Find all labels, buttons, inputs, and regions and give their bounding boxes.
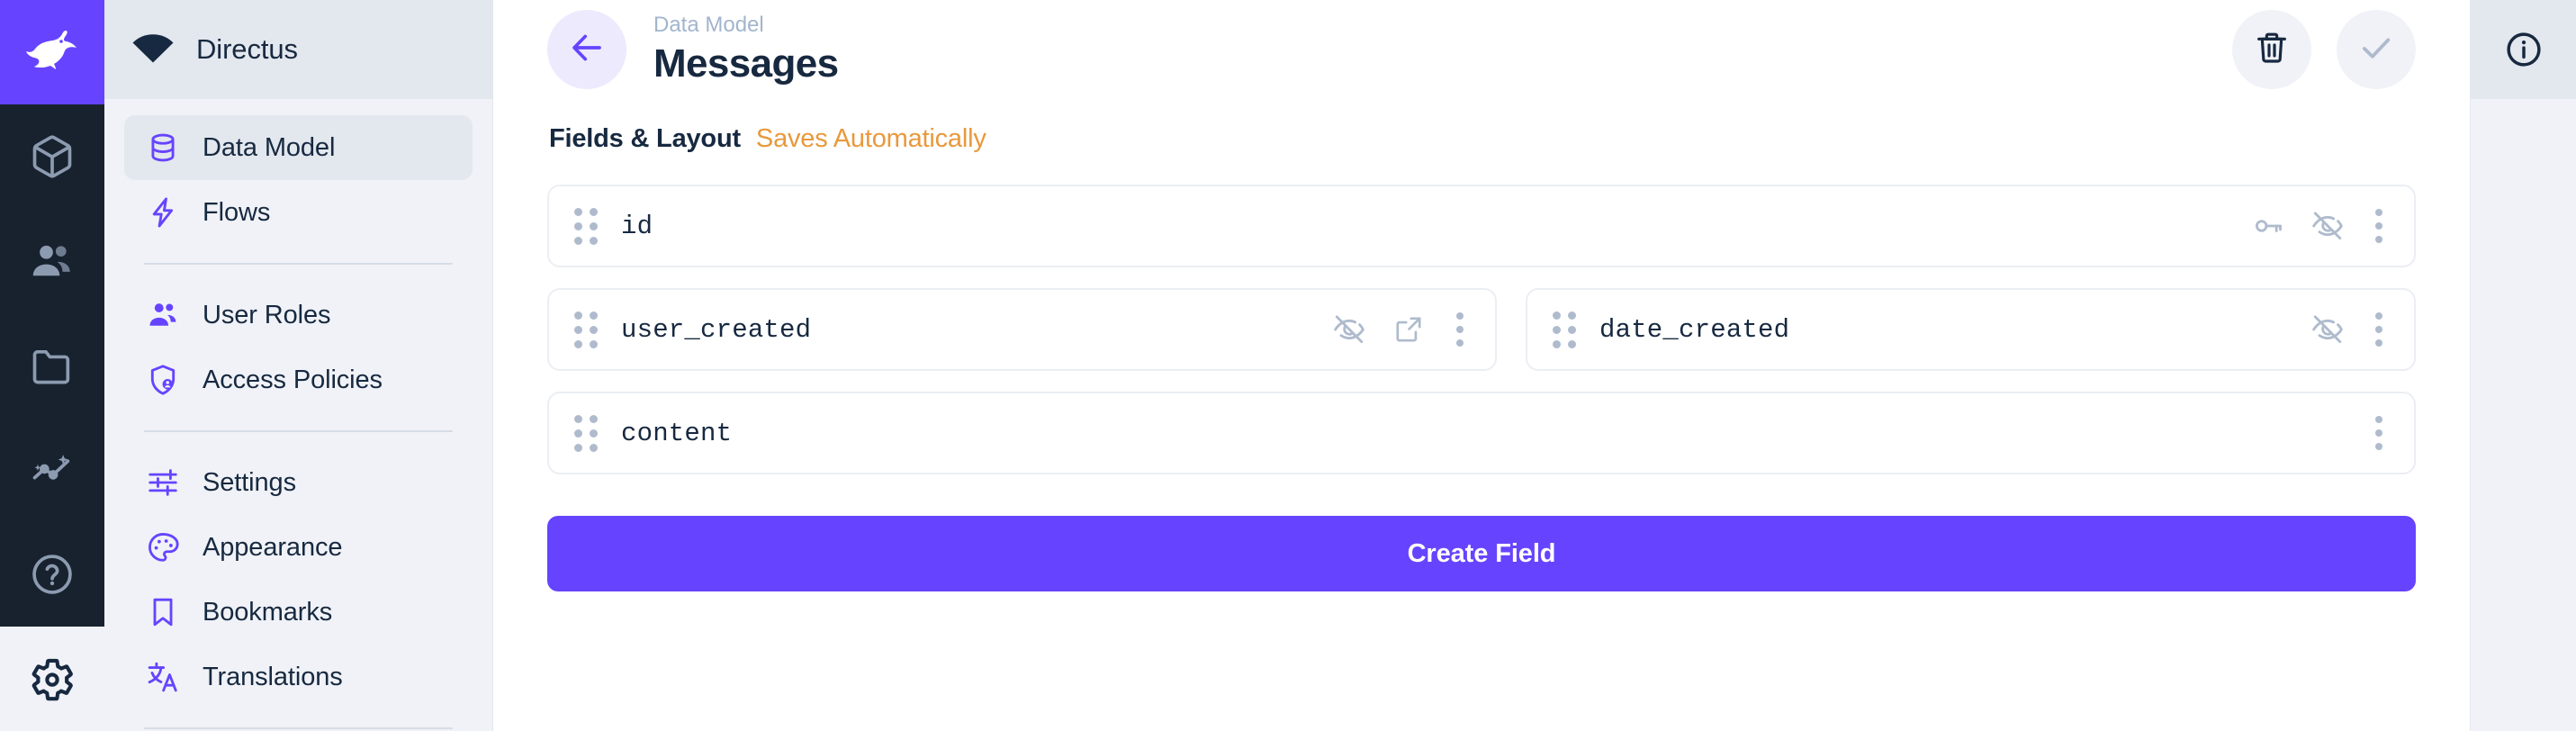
field-list: id — [547, 185, 2416, 474]
sidebar-header-title: Directus — [196, 33, 298, 66]
folder-icon — [29, 342, 76, 389]
bookmark-icon — [144, 593, 182, 631]
field-name: date_created — [1599, 315, 1789, 345]
header-actions — [2232, 10, 2416, 89]
field-card-user-created[interactable]: user_created — [547, 288, 1497, 371]
sidebar-item-label: Appearance — [203, 533, 342, 563]
sidebar-item-access-policies[interactable]: Access Policies — [124, 347, 473, 412]
module-rail — [0, 0, 104, 731]
module-rail-item-insights[interactable] — [0, 418, 104, 522]
gear-icon — [29, 655, 76, 702]
more-options-icon[interactable] — [2369, 207, 2389, 245]
page-title-block: Data Model Messages — [653, 13, 839, 86]
page-title: Messages — [653, 42, 839, 86]
sidebar-item-flows[interactable]: Flows — [124, 180, 473, 245]
field-actions — [2288, 311, 2389, 348]
field-actions — [1310, 311, 1470, 348]
field-card-content[interactable]: content — [547, 392, 2416, 474]
users-icon — [29, 238, 76, 284]
drag-handle-icon[interactable] — [1549, 311, 1580, 348]
more-options-icon[interactable] — [2369, 414, 2389, 452]
main-content: Data Model Messages — [493, 0, 2470, 731]
directus-logo-button[interactable] — [0, 0, 104, 104]
field-actions — [2347, 414, 2389, 452]
sidebar-item-label: Data Model — [203, 133, 335, 163]
eye-off-icon[interactable] — [1331, 311, 1367, 347]
sidebar-item-user-roles[interactable]: User Roles — [124, 283, 473, 347]
help-circle-icon — [29, 551, 76, 598]
field-row: id — [547, 185, 2416, 267]
trash-icon — [2254, 30, 2290, 70]
people-icon — [144, 296, 182, 334]
page-header: Data Model Messages — [493, 0, 2470, 99]
translate-icon — [144, 658, 182, 696]
section-title: Fields & Layout — [549, 124, 741, 154]
module-rail-item-settings[interactable] — [0, 627, 104, 731]
delete-collection-button[interactable] — [2232, 10, 2311, 89]
bolt-icon — [144, 194, 182, 231]
sidebar-item-bookmarks[interactable]: Bookmarks — [124, 580, 473, 645]
box-icon — [29, 133, 76, 180]
field-row: user_created — [547, 288, 2416, 371]
module-rail-item-file-library[interactable] — [0, 313, 104, 418]
sidebar-item-label: Bookmarks — [203, 598, 332, 627]
directus-rabbit-logo-icon — [24, 30, 80, 76]
sidebar-divider — [144, 430, 453, 432]
insights-icon — [29, 447, 76, 493]
sidebar-header: Directus — [104, 0, 492, 99]
drag-handle-icon[interactable] — [571, 414, 601, 452]
check-icon — [2357, 29, 2395, 71]
module-rail-item-user-directory[interactable] — [0, 209, 104, 313]
autosave-note: Saves Automatically — [756, 124, 986, 154]
sidebar-item-label: Translations — [203, 663, 343, 692]
sidebar-item-label: Settings — [203, 468, 296, 498]
eye-off-icon[interactable] — [2310, 311, 2346, 347]
directus-app: Directus Data Model — [0, 0, 2576, 731]
module-rail-item-content[interactable] — [0, 104, 104, 209]
info-circle-icon[interactable] — [2504, 30, 2544, 69]
more-options-icon[interactable] — [2369, 311, 2389, 348]
field-row: content — [547, 392, 2416, 474]
sidebar-item-data-model[interactable]: Data Model — [124, 115, 473, 180]
field-name: content — [621, 419, 732, 448]
tune-icon — [144, 464, 182, 501]
right-sidebar-header — [2471, 0, 2576, 99]
sidebar-item-translations[interactable]: Translations — [124, 645, 473, 709]
shield-person-icon — [144, 361, 182, 399]
drag-handle-icon[interactable] — [571, 207, 601, 245]
create-field-button[interactable]: Create Field — [547, 516, 2416, 591]
database-icon — [144, 129, 182, 167]
field-card-id[interactable]: id — [547, 185, 2416, 267]
save-button[interactable] — [2337, 10, 2416, 89]
sidebar-item-appearance[interactable]: Appearance — [124, 515, 473, 580]
field-actions — [2229, 207, 2389, 245]
back-button[interactable] — [547, 10, 626, 89]
sidebar-item-label: Flows — [203, 198, 270, 228]
fields-layout-section: Fields & Layout Saves Automatically id — [493, 99, 2470, 731]
sidebar-item-label: User Roles — [203, 301, 330, 330]
field-name: id — [621, 212, 653, 241]
section-header: Fields & Layout Saves Automatically — [547, 124, 2416, 154]
key-icon[interactable] — [2250, 208, 2286, 244]
settings-sidebar: Directus Data Model — [104, 0, 493, 731]
sidebar-divider — [144, 263, 453, 265]
eye-off-icon[interactable] — [2310, 208, 2346, 244]
breadcrumb[interactable]: Data Model — [653, 13, 839, 39]
field-name: user_created — [621, 315, 811, 345]
sidebar-item-label: Access Policies — [203, 365, 383, 395]
module-rail-item-help[interactable] — [0, 522, 104, 627]
sidebar-divider — [144, 727, 453, 729]
sidebar-nav-list: Data Model Flows — [104, 99, 492, 731]
sidebar-item-settings[interactable]: Settings — [124, 450, 473, 515]
directus-mark-icon — [131, 32, 175, 68]
palette-icon — [144, 528, 182, 566]
field-card-date-created[interactable]: date_created — [1526, 288, 2416, 371]
open-in-new-icon[interactable] — [1391, 311, 1427, 347]
drag-handle-icon[interactable] — [571, 311, 601, 348]
arrow-left-icon — [568, 29, 606, 71]
right-info-sidebar — [2470, 0, 2576, 731]
more-options-icon[interactable] — [1450, 311, 1470, 348]
